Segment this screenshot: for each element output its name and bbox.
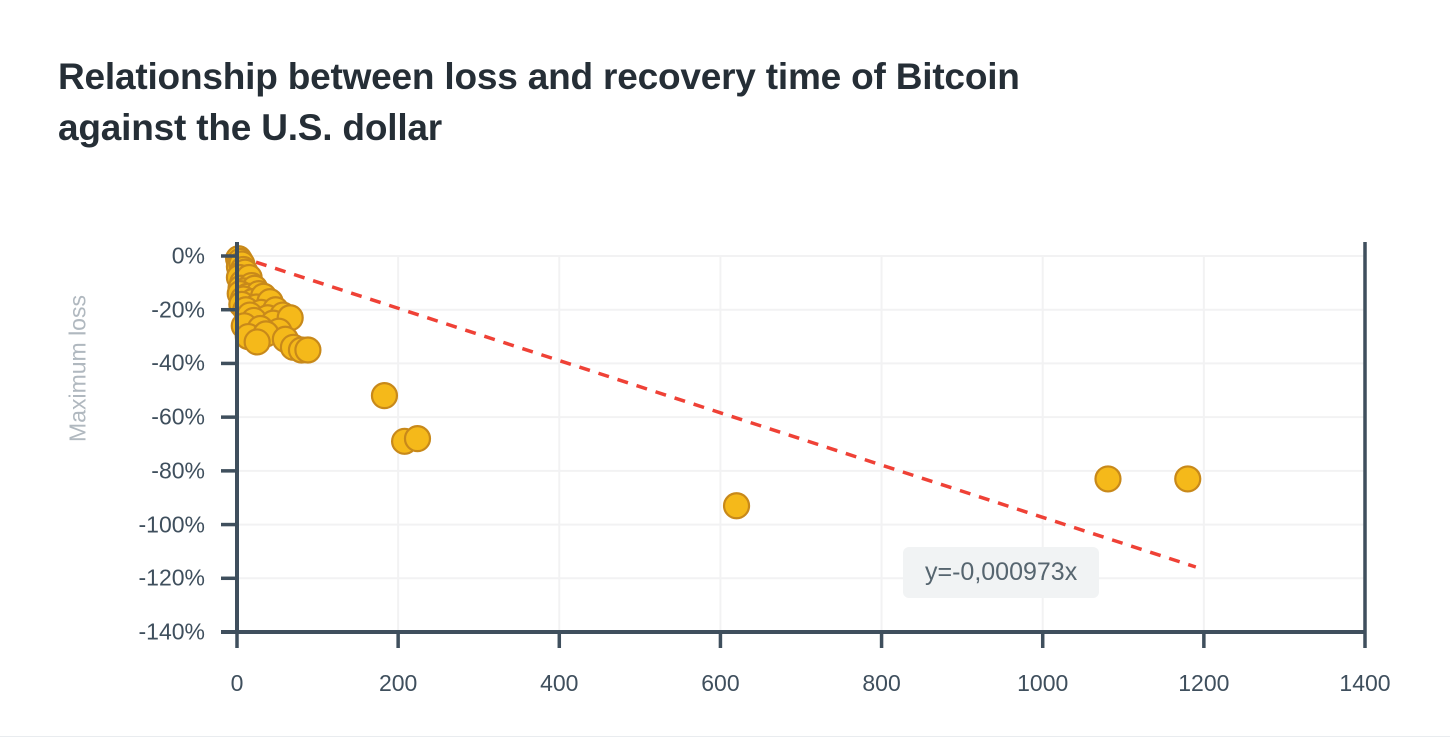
x-axis-tick-label: 400	[540, 670, 578, 697]
x-axis-tick-label: 800	[862, 670, 900, 697]
x-axis-tick-labels: 0200400600800100012001400	[0, 0, 1450, 739]
x-axis-tick-label: 1400	[1339, 670, 1390, 697]
footer-divider	[0, 736, 1450, 737]
x-axis-tick-label: 1000	[1017, 670, 1068, 697]
chart-page: Relationship between loss and recovery t…	[0, 0, 1450, 739]
x-axis-tick-label: 600	[701, 670, 739, 697]
x-axis-tick-label: 0	[231, 670, 244, 697]
x-axis-tick-label: 200	[379, 670, 417, 697]
x-axis-tick-label: 1200	[1178, 670, 1229, 697]
trendline-equation-label: y=-0,000973x	[903, 547, 1099, 598]
